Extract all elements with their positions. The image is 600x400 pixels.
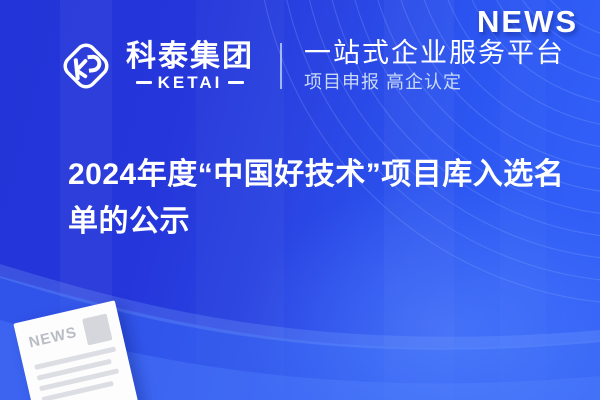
brand-name-en: KETAI [158, 74, 223, 91]
brand-name-en-row: KETAI [126, 74, 254, 91]
brand-wordmark: 科泰集团 KETAI [126, 41, 254, 92]
banner-header: 科泰集团 KETAI 一站式企业服务平台 项目申报 高企认定 [0, 0, 600, 132]
newspaper-image-block [82, 313, 112, 345]
slogan-main: 一站式企业服务平台 [304, 38, 565, 69]
dash-left-icon [136, 81, 152, 84]
brand-logo[interactable]: 科泰集团 KETAI [58, 38, 254, 94]
header-divider [280, 43, 282, 89]
newspaper-title: NEWS [27, 321, 79, 351]
brand-name-cn: 科泰集团 [126, 41, 254, 73]
page-title: 2024年度“中国好技术”项目库入选名单的公示 [68, 152, 568, 245]
news-banner: NEWS 科泰集团 KETAI [0, 0, 600, 400]
slogan-sub: 项目申报 高企认定 [304, 72, 565, 94]
dash-right-icon [228, 81, 244, 84]
slogan-block: 一站式企业服务平台 项目申报 高企认定 [304, 38, 565, 94]
ketai-diamond-kd-logo-icon [58, 38, 114, 94]
